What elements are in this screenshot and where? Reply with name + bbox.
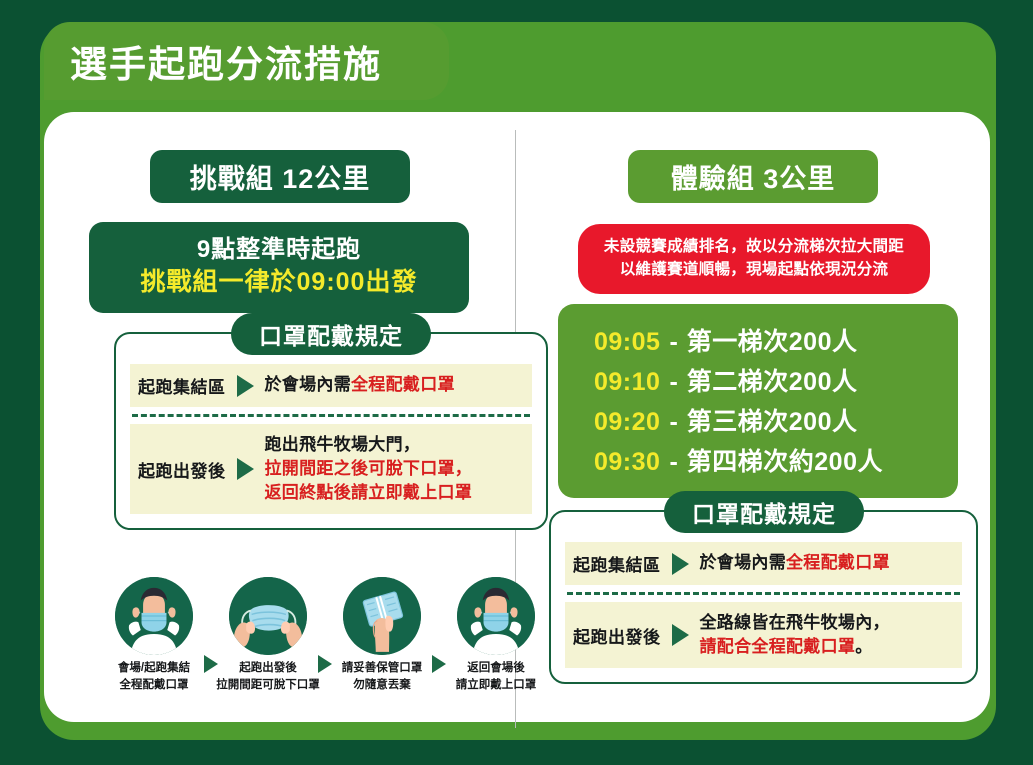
mask-rule-text-segment: 全程配戴口罩	[786, 553, 890, 572]
wave-row: 09:20-第三梯次200人	[558, 400, 958, 440]
mask-rule-text-line: 於會場內需全程配戴口罩	[265, 373, 455, 397]
callout-line1: 未設競賽成績排名，故以分流梯次拉大間距	[590, 235, 918, 258]
mask-rule-text-line: 跑出飛牛牧場大門，	[265, 433, 473, 457]
wave-row: 09:30-第四梯次約200人	[558, 440, 958, 480]
triangle-arrow-icon	[672, 553, 689, 575]
mask-rule-text-line: 返回終點後請立即戴上口罩	[265, 481, 473, 505]
experience-group-header: 體驗組 3公里	[628, 150, 878, 203]
mask-rule-row: 起跑出發後全路線皆在飛牛牧場內，請配合全程配戴口罩。	[565, 602, 962, 668]
wave-dash: -	[669, 408, 677, 437]
challenge-start-time-box: 9點整準時起跑 挑戰組一律於09:00出發	[89, 222, 469, 313]
challenge-mask-rules-panel: 口罩配戴規定 起跑集結區於會場內需全程配戴口罩起跑出發後跑出飛牛牧場大門，拉開間…	[114, 332, 548, 530]
mask-step-caption-line1: 會場/起跑集結	[118, 660, 190, 677]
mask-rule-text-segment: 拉開間距之後可脫下口罩，	[265, 459, 473, 478]
mask-rule-text: 全路線皆在飛牛牧場內，請配合全程配戴口罩。	[700, 611, 890, 659]
mask-step-caption-line2: 勿隨意丟棄	[342, 677, 423, 694]
mask-rule-label: 起跑出發後	[573, 623, 661, 648]
wave-time: 09:20	[594, 408, 660, 437]
mask-step: 返回會場後請立即戴上口罩	[446, 577, 546, 693]
mask-rule-label: 起跑集結區	[138, 373, 226, 398]
mask-step-caption: 會場/起跑集結全程配戴口罩	[118, 660, 190, 693]
mask-step-caption-line2: 請立即戴上口罩	[456, 677, 537, 694]
mask-rules-rows: 起跑集結區於會場內需全程配戴口罩起跑出發後全路線皆在飛牛牧場內，請配合全程配戴口…	[551, 512, 976, 682]
mask-rule-divider	[567, 592, 960, 595]
callout-line2: 以維護賽道順暢，現場起點依現況分流	[590, 258, 918, 281]
mask-rule-text-segment: 跑出飛牛牧場大門，	[265, 435, 421, 454]
mask-rules-badge: 口罩配戴規定	[664, 491, 864, 533]
wave-time: 09:05	[594, 328, 660, 357]
mask-step: 會場/起跑集結全程配戴口罩	[104, 577, 204, 693]
mask-rules-badge: 口罩配戴規定	[231, 313, 431, 355]
mask-rule-text-segment: 於會場內需	[265, 375, 352, 394]
wave-label: 第四梯次約200人	[687, 442, 883, 478]
mask-rule-divider	[132, 414, 530, 417]
wave-row: 09:05-第一梯次200人	[558, 320, 958, 360]
mask-step-caption: 請妥善保管口罩勿隨意丟棄	[342, 660, 423, 693]
challenge-group-header: 挑戰組 12公里	[150, 150, 410, 203]
mask-rule-text-line: 拉開間距之後可脫下口罩，	[265, 457, 473, 481]
experience-mask-rules-panel: 口罩配戴規定 起跑集結區於會場內需全程配戴口罩起跑出發後全路線皆在飛牛牧場內，請…	[549, 510, 978, 684]
hands-holding-mask-icon	[229, 577, 307, 655]
wave-schedule-list: 09:05-第一梯次200人09:10-第二梯次200人09:20-第三梯次20…	[558, 304, 958, 498]
wave-time: 09:10	[594, 368, 660, 397]
page-title: 選手起跑分流措施	[70, 34, 382, 88]
poster-title-tab: 選手起跑分流措施	[44, 22, 449, 100]
mask-rule-text: 於會場內需全程配戴口罩	[700, 551, 890, 575]
wave-dash: -	[669, 328, 677, 357]
mask-step: 起跑出發後拉開間距可脫下口罩	[218, 577, 318, 693]
step-arrow-icon	[432, 655, 446, 673]
challenge-start-line1: 9點整準時起跑	[89, 234, 469, 266]
challenge-start-line2: 挑戰組一律於09:00出發	[89, 266, 469, 299]
mask-step-caption: 返回會場後請立即戴上口罩	[456, 660, 537, 693]
wave-label: 第二梯次200人	[687, 362, 858, 398]
mask-step: 請妥善保管口罩勿隨意丟棄	[332, 577, 432, 693]
mask-step-caption: 起跑出發後拉開間距可脫下口罩	[216, 660, 320, 693]
mask-rule-text-segment: 於會場內需	[700, 553, 787, 572]
triangle-arrow-icon	[237, 375, 254, 397]
mask-step-caption-line2: 拉開間距可脫下口罩	[216, 677, 320, 694]
mask-rule-text-segment: 全路線皆在飛牛牧場內，	[700, 613, 890, 632]
mask-rules-rows: 起跑集結區於會場內需全程配戴口罩起跑出發後跑出飛牛牧場大門，拉開間距之後可脫下口…	[116, 334, 546, 528]
wave-row: 09:10-第二梯次200人	[558, 360, 958, 400]
person-wearing-mask-icon	[115, 577, 193, 655]
mask-rule-text-segment: 全程配戴口罩	[351, 375, 455, 394]
step-arrow-icon	[318, 655, 332, 673]
mask-step-caption-line1: 返回會場後	[456, 660, 537, 677]
mask-step-caption-line2: 全程配戴口罩	[118, 677, 190, 694]
mask-rule-text: 於會場內需全程配戴口罩	[265, 373, 455, 397]
triangle-arrow-icon	[237, 458, 254, 480]
mask-rule-text: 跑出飛牛牧場大門，拉開間距之後可脫下口罩，返回終點後請立即戴上口罩	[265, 433, 473, 505]
mask-rule-text-segment: 返回終點後請立即戴上口罩	[265, 483, 473, 502]
wave-label: 第一梯次200人	[687, 322, 858, 358]
mask-step-caption-line1: 請妥善保管口罩	[342, 660, 423, 677]
mask-step-sequence: 會場/起跑集結全程配戴口罩 起跑出發後拉開間距可脫下口罩 請妥善保管口罩勿隨意丟…	[104, 577, 559, 693]
mask-rule-label: 起跑集結區	[573, 551, 661, 576]
mask-rule-row: 起跑出發後跑出飛牛牧場大門，拉開間距之後可脫下口罩，返回終點後請立即戴上口罩	[130, 424, 532, 514]
mask-rule-text-segment: 。	[855, 637, 872, 656]
mask-rule-row: 起跑集結區於會場內需全程配戴口罩	[130, 364, 532, 407]
mask-rule-row: 起跑集結區於會場內需全程配戴口罩	[565, 542, 962, 585]
triangle-arrow-icon	[672, 624, 689, 646]
person-wearing-mask-icon	[457, 577, 535, 655]
wave-notice-callout: 未設競賽成績排名，故以分流梯次拉大間距 以維護賽道順暢，現場起點依現況分流	[578, 224, 930, 294]
mask-step-caption-line1: 起跑出發後	[216, 660, 320, 677]
mask-rule-text-line: 於會場內需全程配戴口罩	[700, 551, 890, 575]
poster-root: 選手起跑分流措施 挑戰組 12公里 9點整準時起跑 挑戰組一律於09:00出發 …	[0, 0, 1033, 765]
wave-label: 第三梯次200人	[687, 402, 858, 438]
mask-rule-label: 起跑出發後	[138, 457, 226, 482]
hand-storing-mask-icon	[343, 577, 421, 655]
wave-dash: -	[669, 368, 677, 397]
wave-time: 09:30	[594, 448, 660, 477]
mask-rule-text-line: 全路線皆在飛牛牧場內，	[700, 611, 890, 635]
wave-dash: -	[669, 448, 677, 477]
mask-rule-text-segment: 請配合全程配戴口罩	[700, 637, 856, 656]
mask-rule-text-line: 請配合全程配戴口罩。	[700, 635, 890, 659]
